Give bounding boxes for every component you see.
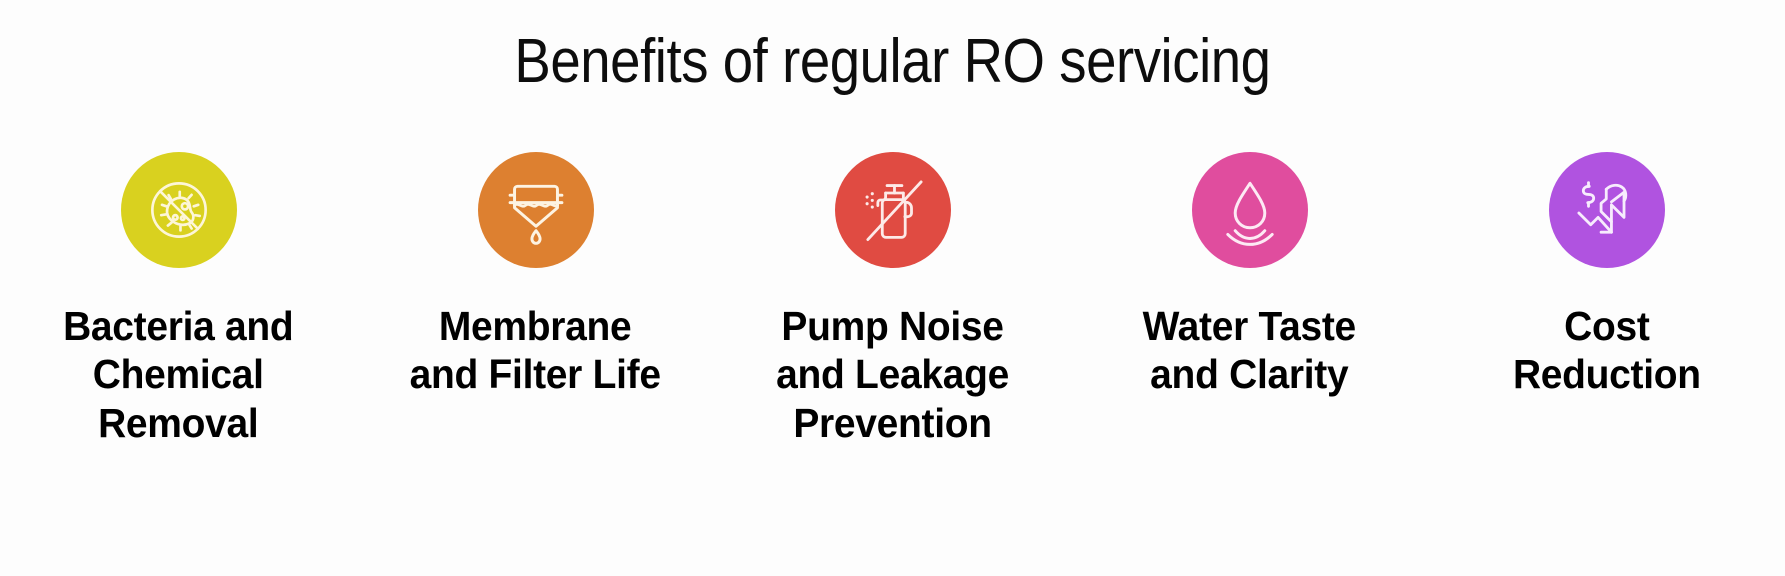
benefit-card-bacteria-removal: Bacteria and Chemical Removal: [0, 152, 357, 447]
benefit-label: Bacteria and Chemical Removal: [63, 302, 293, 447]
benefit-icon-circle: [478, 152, 594, 268]
benefit-card-pump-noise-leakage: Pump Noise and Leakage Prevention: [714, 152, 1071, 447]
water-filter-drip-icon: [499, 173, 573, 247]
no-bacteria-icon: [142, 173, 216, 247]
water-drop-ripple-icon: [1213, 173, 1287, 247]
benefit-icon-circle: [121, 152, 237, 268]
benefit-label: Water Taste and Clarity: [1143, 302, 1356, 399]
benefit-label: Cost Reduction: [1513, 302, 1701, 399]
benefit-label: Pump Noise and Leakage Prevention: [776, 302, 1009, 447]
benefit-card-cost-reduction: Cost Reduction: [1428, 152, 1785, 399]
benefits-row: Bacteria and Chemical Removal Membrane a…: [0, 152, 1785, 447]
benefit-card-membrane-filter-life: Membrane and Filter Life: [357, 152, 714, 399]
no-spray-bottle-icon: [856, 173, 930, 247]
cost-reduction-arrow-icon: [1570, 173, 1644, 247]
benefit-icon-circle: [1192, 152, 1308, 268]
benefit-icon-circle: [1549, 152, 1665, 268]
page-title: Benefits of regular RO servicing: [107, 26, 1678, 97]
benefit-card-water-taste-clarity: Water Taste and Clarity: [1071, 152, 1428, 399]
benefit-label: Membrane and Filter Life: [410, 302, 661, 399]
infographic-root: Benefits of regular RO servicing: [0, 0, 1785, 576]
benefit-icon-circle: [835, 152, 951, 268]
